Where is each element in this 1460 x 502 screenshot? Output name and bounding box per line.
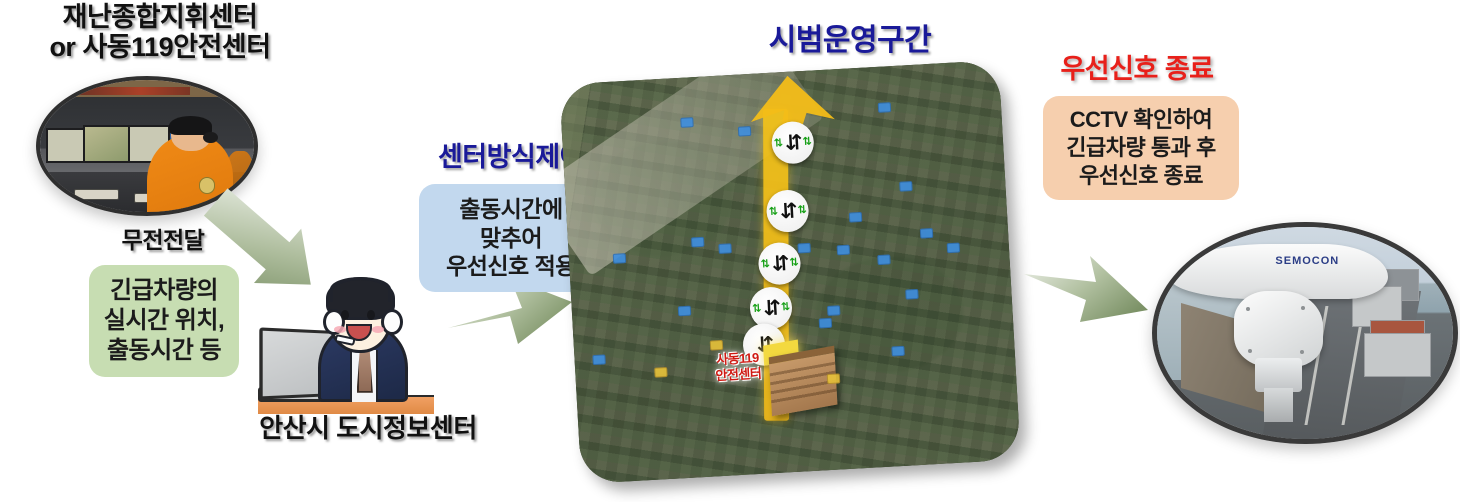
radio-transfer-box: 긴급차량의 실시간 위치, 출동시간 등: [89, 265, 239, 377]
pilot-section-heading: 시범운영구간: [718, 24, 982, 58]
map-pin: [797, 243, 811, 254]
camera-screw: [1248, 349, 1252, 353]
operator-eye-right: [367, 310, 375, 320]
map-card: ⇅ ⇵ ⇅ ⇅ ⇵ ⇅ ⇅ ⇵ ⇅ ⇅ ⇵ ⇅ ⇵: [559, 60, 1021, 484]
green-arrow-left-icon: ⇅: [760, 259, 770, 270]
up-down-arrow-icon: ⇵: [771, 253, 788, 275]
fire-station-label: 사동119 안전센터: [702, 349, 774, 384]
map-pin: [613, 253, 627, 264]
up-down-arrow-icon: ⇵: [779, 200, 796, 222]
operator-with-headset-illustration: [258, 262, 434, 414]
pilot-section-map[interactable]: ⇅ ⇵ ⇅ ⇅ ⇵ ⇅ ⇅ ⇵ ⇅ ⇅ ⇵ ⇅ ⇵: [570, 72, 1010, 472]
camera-ptz-head: [1234, 291, 1323, 367]
diagram-canvas: 재난종합지휘센터 or 사동119안전센터 무전전달 긴급차량: [0, 0, 1460, 502]
up-down-arrow-icon: ⇵: [784, 132, 801, 154]
green-arrow-right-icon: ⇅: [802, 136, 812, 147]
map-pin: [877, 254, 891, 265]
map-pin: [891, 346, 905, 357]
map-pin: [827, 305, 841, 316]
camera-brand-label: SEMOCON: [1275, 255, 1339, 267]
map-pin: [900, 181, 914, 192]
camera-screw: [1301, 306, 1305, 310]
camera-screw: [1300, 350, 1304, 354]
priority-end-box: CCTV 확인하여 긴급차량 통과 후 우선신호 종료: [1043, 96, 1239, 200]
monitor-map: [83, 125, 130, 163]
map-pin: [680, 117, 694, 128]
arrow-map-to-cctv: [1018, 248, 1154, 340]
map-pin: [677, 306, 691, 317]
operator-eye-left: [341, 310, 349, 320]
monitor-left: [46, 128, 84, 164]
green-arrow-left-icon: ⇅: [752, 303, 762, 314]
map-pin: [906, 289, 920, 300]
map-pin: [947, 242, 961, 253]
building-near: [1364, 333, 1431, 377]
city-info-center-caption: 안산시 도시정보센터: [218, 414, 518, 443]
up-down-arrow-icon: ⇵: [763, 297, 780, 319]
map-pin: [877, 102, 891, 113]
map-pin: [718, 243, 732, 254]
map-pin: [827, 373, 841, 384]
headset-earcup-right-icon: [381, 309, 403, 335]
map-pin: [738, 126, 752, 137]
map-pin: [848, 212, 862, 223]
camera-pole: [1264, 388, 1294, 422]
map-pin: [691, 237, 705, 248]
control-room-banner: [79, 87, 190, 95]
map-pin: [837, 245, 851, 256]
map-pin: [920, 228, 934, 239]
green-arrow-left-icon: ⇅: [769, 206, 779, 217]
dispatch-center-heading: 재난종합지휘센터 or 사동119안전센터: [10, 2, 310, 62]
map-pin: [654, 367, 668, 378]
keyboard-left: [74, 189, 119, 200]
map-pin: [592, 354, 606, 365]
green-arrow-right-icon: ⇅: [781, 302, 791, 313]
green-arrow-left-icon: ⇅: [774, 138, 784, 149]
map-pin: [819, 318, 833, 329]
priority-end-heading: 우선신호 종료: [1034, 54, 1240, 84]
radio-transfer-heading: 무전전달: [88, 228, 238, 254]
green-arrow-right-icon: ⇅: [797, 204, 807, 215]
map-pin: [710, 340, 724, 351]
headset-band-icon: [330, 277, 391, 301]
green-arrow-right-icon: ⇅: [789, 257, 799, 268]
camera-screw: [1246, 307, 1250, 311]
officer-headset-icon: [203, 132, 218, 144]
cctv-ptz-camera-photo: SEMOCON: [1152, 222, 1458, 444]
